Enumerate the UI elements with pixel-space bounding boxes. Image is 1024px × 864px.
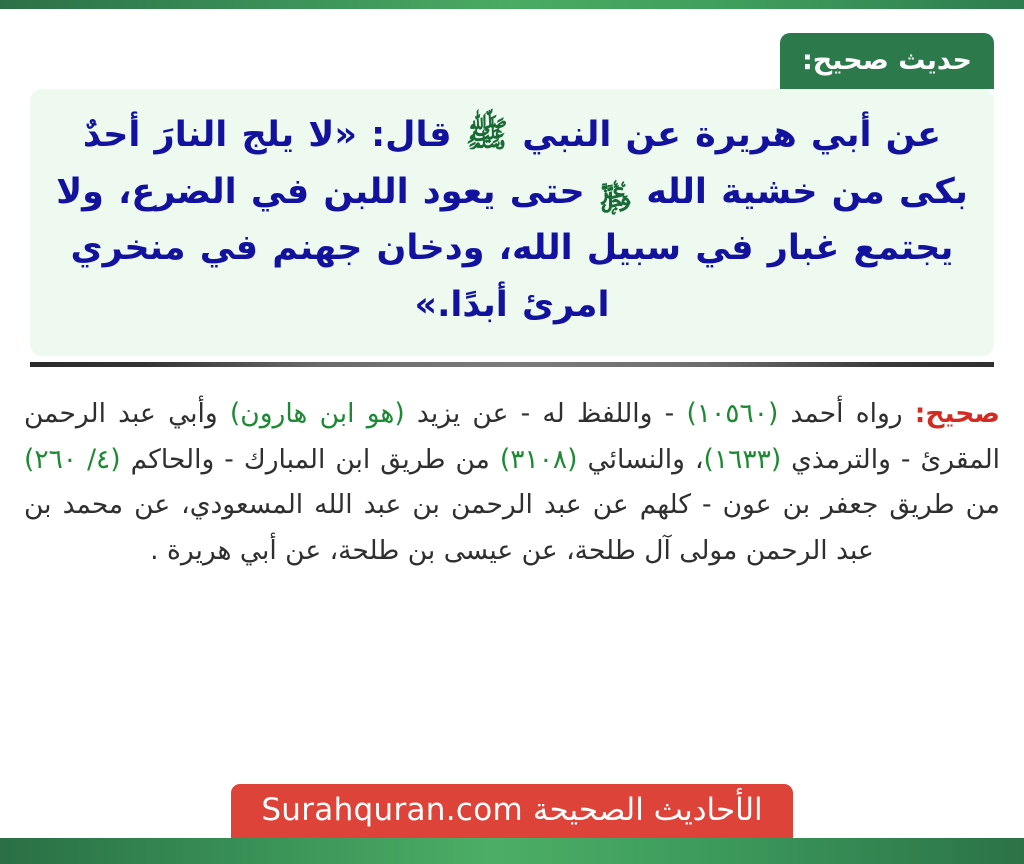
hadith-line2-part2: حتى يعود اللبن في (251, 172, 599, 212)
grade-label: صحيح: (915, 398, 1000, 429)
site-banner-row: الأحاديث الصحيحة Surahquran.com (0, 784, 1024, 838)
card-body: حديث صحيح: عن أبي هريرة عن النبي ﷺ قال: … (0, 9, 1024, 838)
note-yazid: (هو ابن هارون) (230, 398, 405, 429)
takhrij-segment-6: من طريق جعفر بن عون - كلهم عن عبد الرحمن… (24, 489, 1000, 566)
peace-be-upon-him-icon: ﷺ (466, 115, 508, 155)
hadith-text: عن أبي هريرة عن النبي ﷺ قال: «لا يلج الن… (56, 107, 968, 334)
jalla-jalaluhu-icon: ﷿ (599, 176, 632, 211)
grade-tag-row: حديث صحيح: (30, 33, 994, 89)
hadith-text-box: عن أبي هريرة عن النبي ﷺ قال: «لا يلج الن… (30, 89, 994, 356)
takhrij-segment-1: رواه أحمد (778, 398, 914, 429)
takhrij-paragraph: صحيح: رواه أحمد (١٠٥٦٠) - واللفظ له - عن… (24, 391, 1000, 573)
reference-ahmad: (١٠٥٦٠) (686, 398, 778, 429)
takhrij-segment-2: - واللفظ له - عن يزيد (405, 398, 687, 429)
reference-tirmidhi: (١٦٣٣) (704, 444, 782, 475)
site-banner[interactable]: الأحاديث الصحيحة Surahquran.com (231, 784, 792, 838)
hadith-grade-tag: حديث صحيح: (780, 33, 994, 89)
takhrij-segment-4: ، والنسائي (578, 444, 704, 475)
reference-hakim: (٤/ ٢٦٠) (24, 444, 121, 475)
reference-nasai: (٣١٠٨) (500, 444, 578, 475)
hadith-card: حديث صحيح: عن أبي هريرة عن النبي ﷺ قال: … (0, 0, 1024, 864)
section-divider (30, 362, 994, 367)
takhrij-segment-5: من طريق ابن المبارك - والحاكم (121, 444, 500, 475)
top-accent-bar (0, 0, 1024, 9)
hadith-line1-part2: قال: «لا يلج النارَ (155, 115, 466, 155)
bottom-accent-bar (0, 838, 1024, 864)
hadith-line1-part1: عن أبي هريرة عن النبي (508, 115, 941, 155)
